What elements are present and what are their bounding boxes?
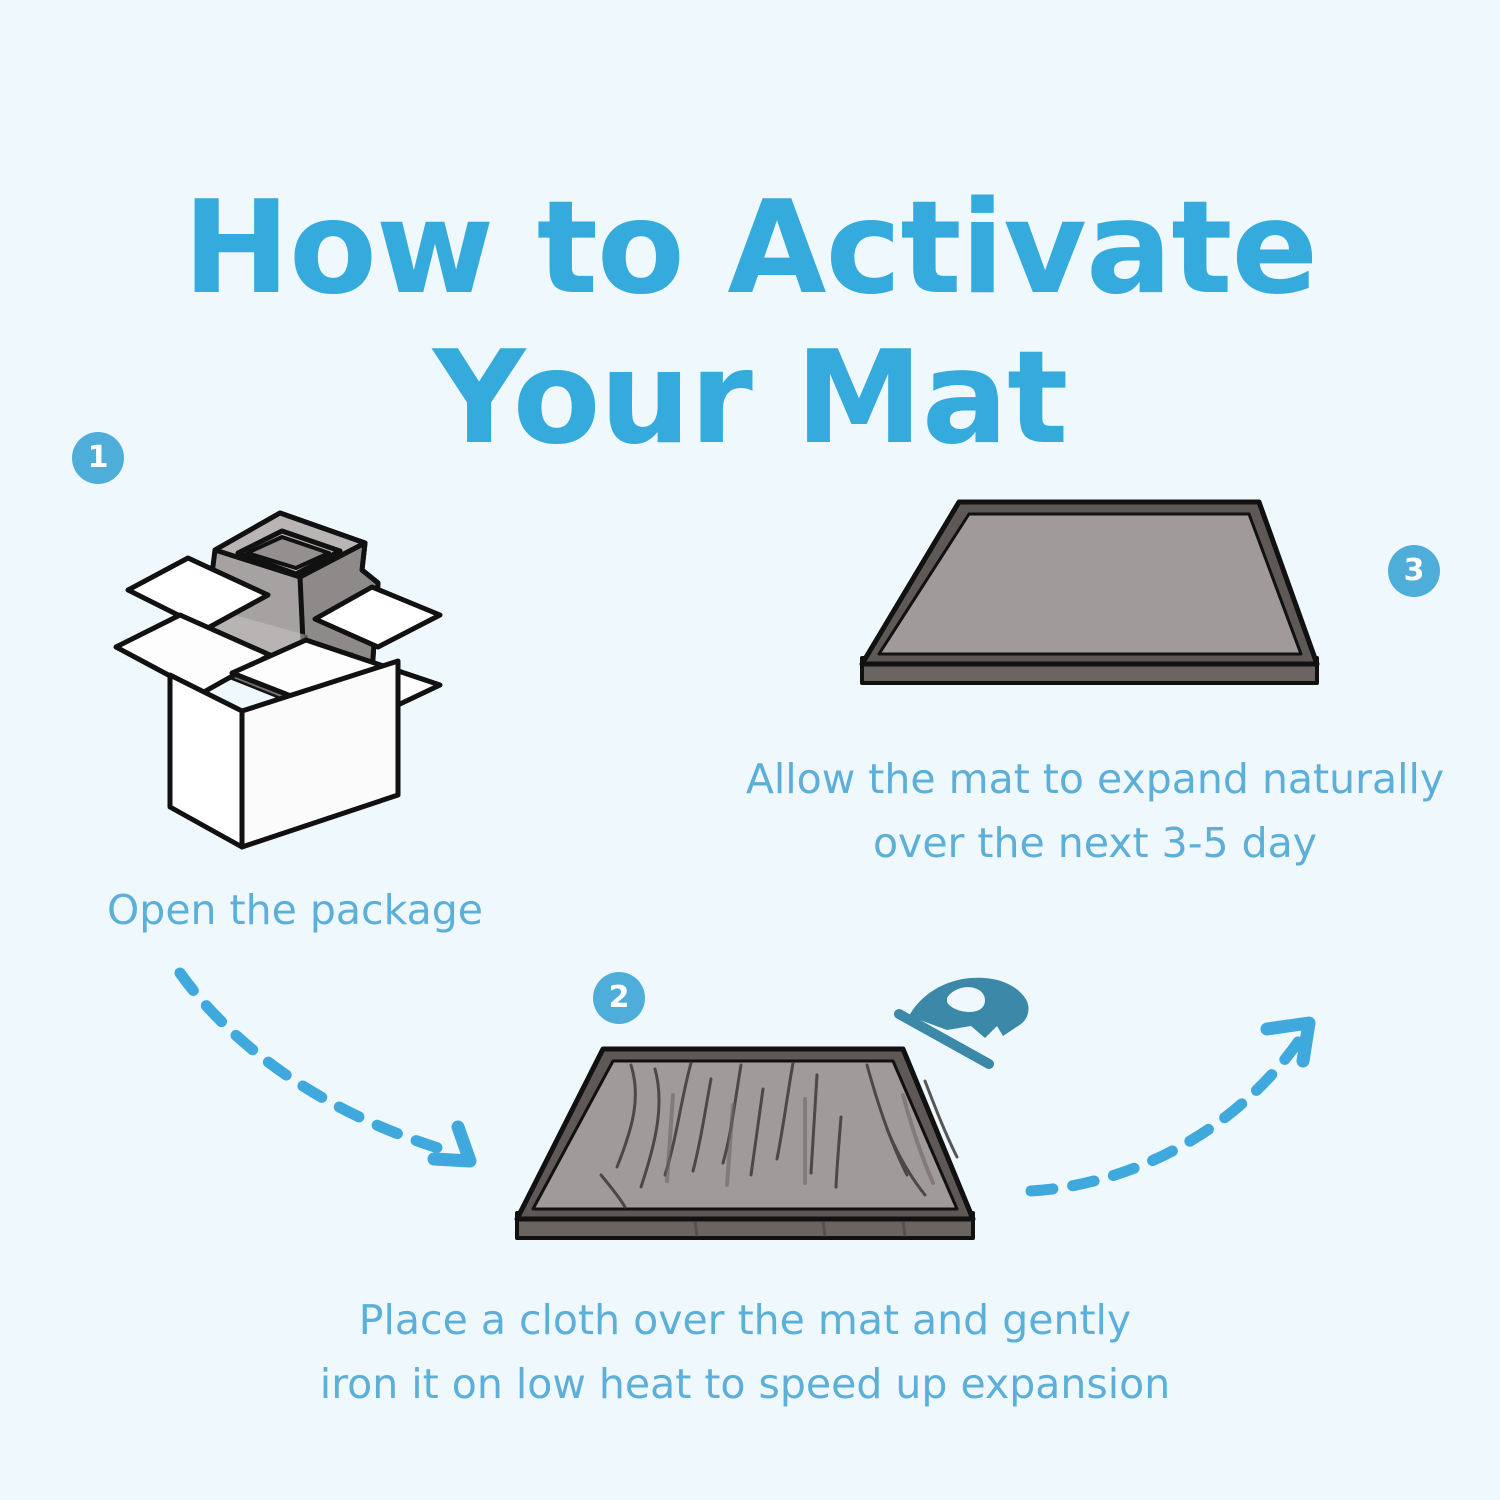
step-2-caption-line-2: iron it on low heat to speed up expansio… <box>230 1352 1260 1416</box>
page-title: How to Activate Your Mat <box>0 174 1500 474</box>
step-1-caption-line-1: Open the package <box>0 878 590 942</box>
page-title-line-2: Your Mat <box>0 324 1500 474</box>
open-box-illustration <box>110 495 490 870</box>
step-1-badge: 1 <box>72 432 124 484</box>
infographic-canvas: How to Activate Your Mat 1 <box>0 0 1500 1500</box>
step-3-caption: Allow the mat to expand naturally over t… <box>690 747 1500 875</box>
flat-mat-illustration <box>855 488 1355 703</box>
dashed-arrow-up-right-icon <box>1015 995 1345 1235</box>
step-2-badge: 2 <box>593 972 645 1024</box>
step-3-caption-line-2: over the next 3-5 day <box>690 811 1500 875</box>
step-2-caption: Place a cloth over the mat and gently ir… <box>230 1288 1260 1416</box>
step-3-caption-line-1: Allow the mat to expand naturally <box>690 747 1500 811</box>
step-2-caption-line-1: Place a cloth over the mat and gently <box>230 1288 1260 1352</box>
step-1-caption: Open the package <box>0 878 590 942</box>
step-3-badge: 3 <box>1388 545 1440 597</box>
page-title-line-1: How to Activate <box>183 174 1317 323</box>
dashed-arrow-down-right-icon <box>170 955 510 1205</box>
